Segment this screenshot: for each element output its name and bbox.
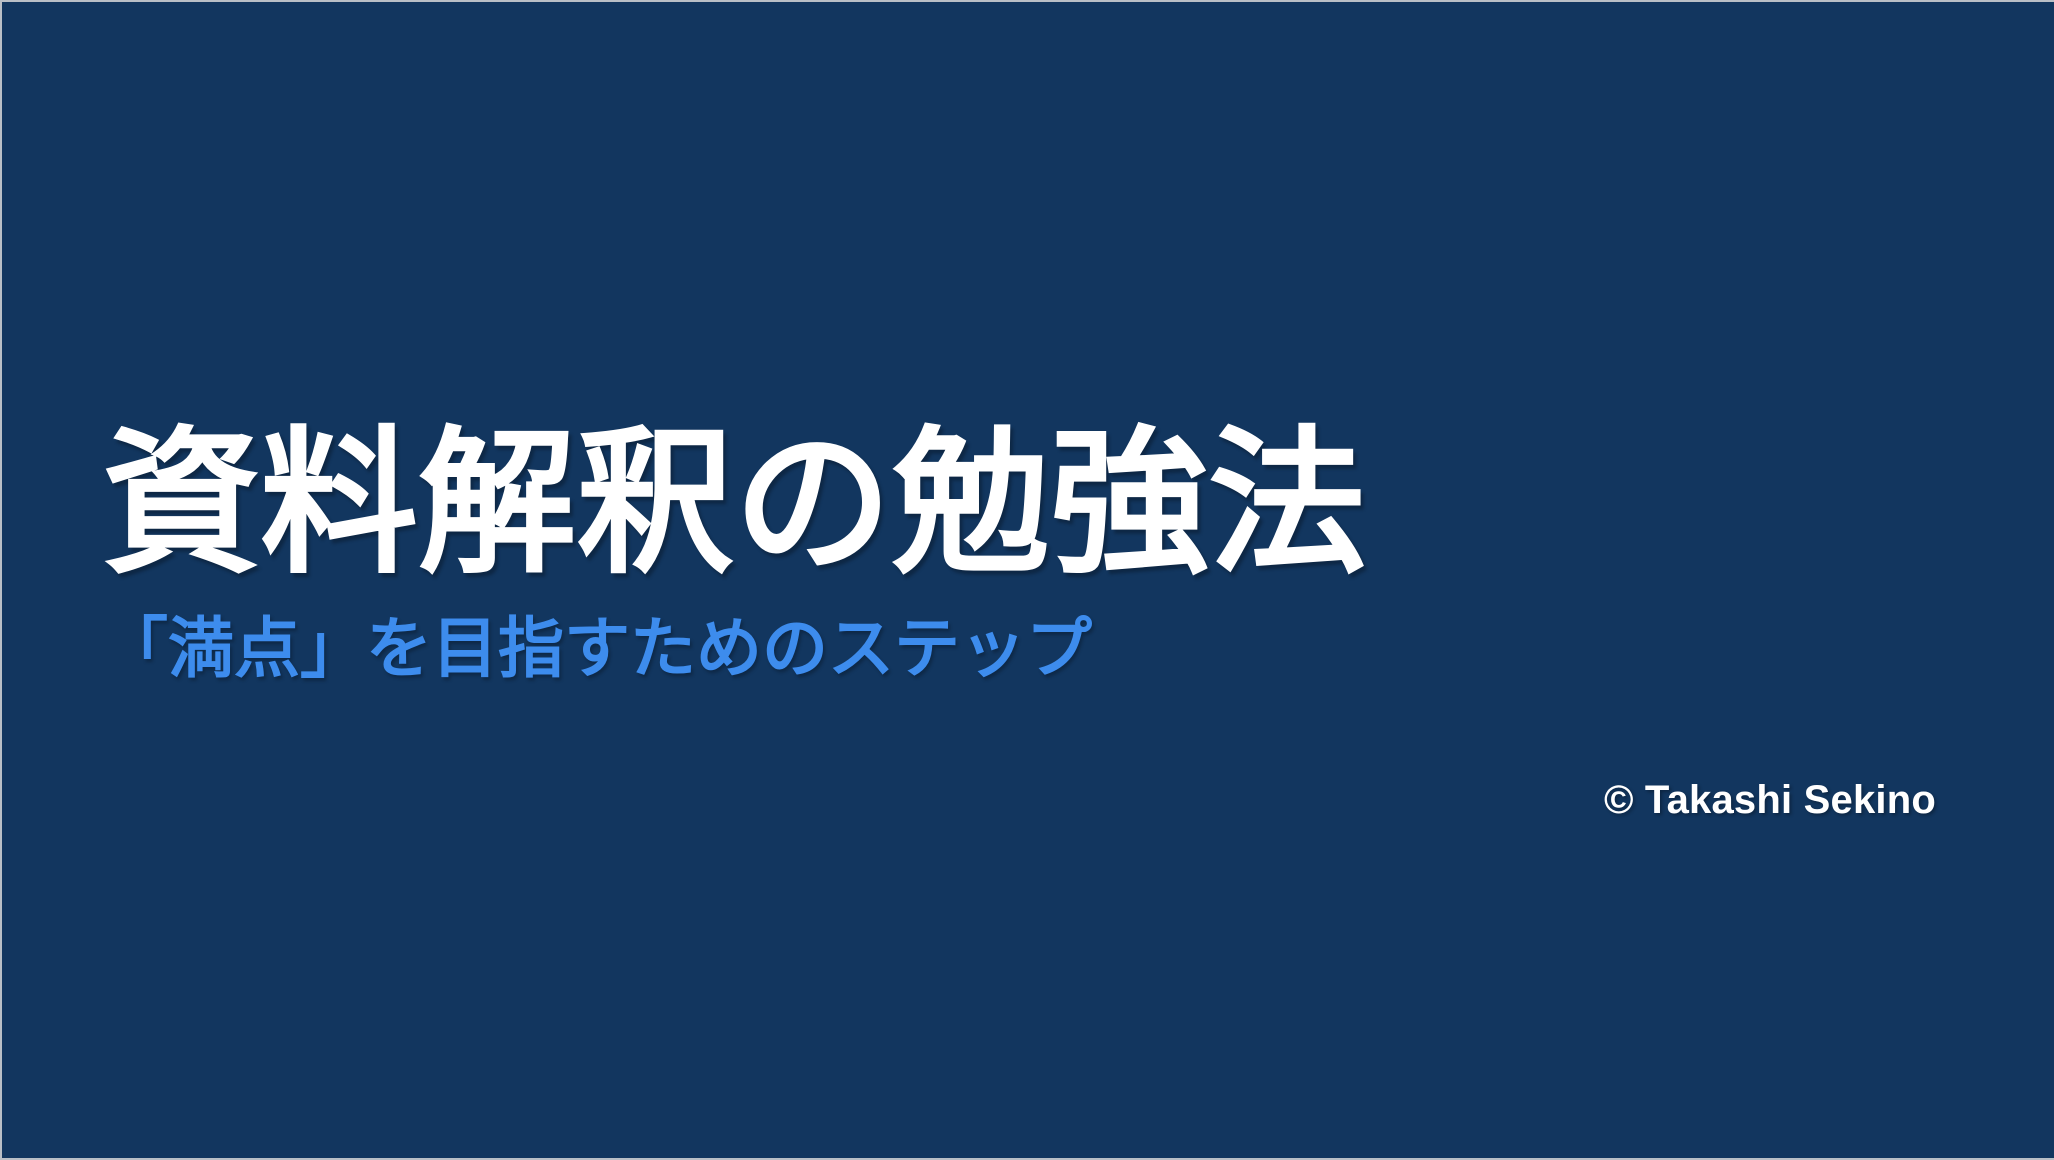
- title-slide: 資料解釈の勉強法 「満点」を目指すためのステップ © Takashi Sekin…: [0, 0, 2054, 1160]
- page-subtitle: 「満点」を目指すためのステップ: [102, 593, 1852, 688]
- copyright-notice: © Takashi Sekino: [1604, 778, 1936, 823]
- title-block: 資料解釈の勉強法 「満点」を目指すためのステップ: [102, 416, 1852, 688]
- page-title: 資料解釈の勉強法: [102, 416, 1852, 593]
